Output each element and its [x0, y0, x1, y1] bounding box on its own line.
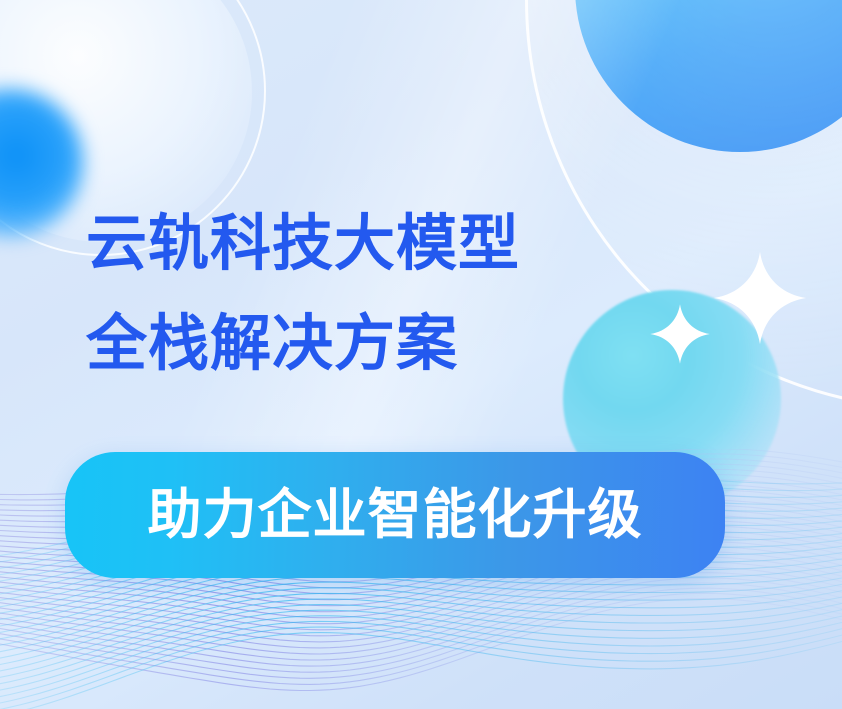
- page-title-line-1: 云轨科技大模型: [86, 188, 520, 298]
- page-title-line-2: 全栈解决方案: [86, 288, 458, 398]
- promo-poster: 云轨科技大模型 全栈解决方案 助力企业智能化升级: [0, 0, 842, 709]
- cta-button[interactable]: 助力企业智能化升级: [65, 452, 725, 578]
- poster-content: 云轨科技大模型 全栈解决方案 助力企业智能化升级: [0, 0, 842, 709]
- cta-button-label: 助力企业智能化升级: [148, 488, 643, 542]
